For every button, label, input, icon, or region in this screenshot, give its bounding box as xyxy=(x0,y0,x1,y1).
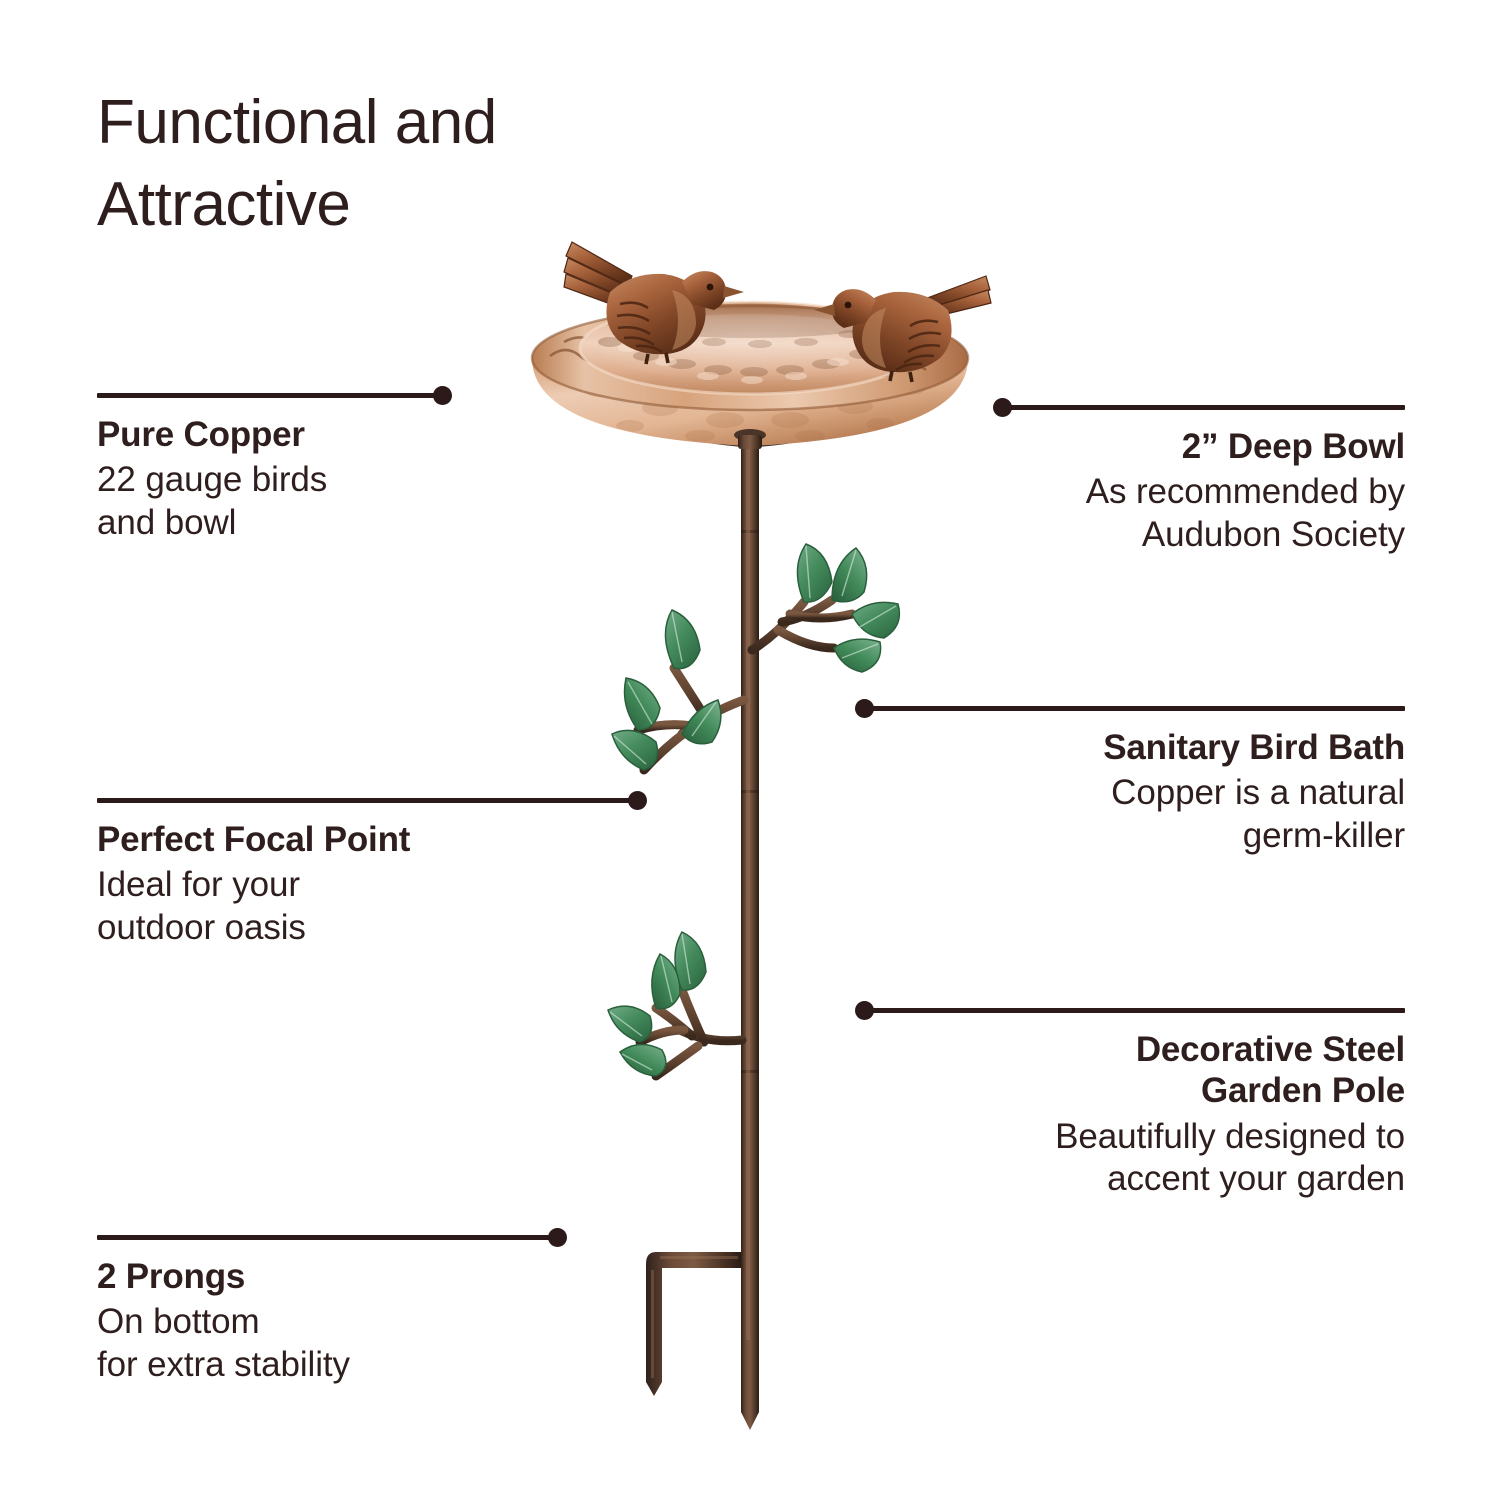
steel-garden-pole xyxy=(741,380,759,1350)
leader-dot-icon xyxy=(433,386,452,405)
callout-body: As recommended by Audubon Society xyxy=(993,471,1405,556)
leaf-cluster-lower xyxy=(608,932,742,1076)
bowl-stem-collar xyxy=(734,429,766,449)
infographic-page: Functional and Attractive Pure Copper 22… xyxy=(0,0,1500,1500)
leader-bar xyxy=(97,393,438,398)
page-title: Functional and Attractive xyxy=(97,82,717,247)
callout-title: Pure Copper xyxy=(97,414,452,455)
callout-leader-line xyxy=(993,398,1405,416)
product-image-copper-bird-bath xyxy=(460,230,1040,1470)
leader-bar xyxy=(1007,405,1405,410)
callout-body: 22 gauge birds and bowl xyxy=(97,459,452,544)
callout-leader-line xyxy=(97,386,452,404)
callout-pure-copper: Pure Copper 22 gauge birds and bowl xyxy=(97,386,452,545)
branch-right-upper xyxy=(752,600,852,650)
callout-deep-bowl: 2” Deep Bowl As recommended by Audubon S… xyxy=(993,398,1405,557)
callout-title: 2” Deep Bowl xyxy=(993,426,1405,467)
